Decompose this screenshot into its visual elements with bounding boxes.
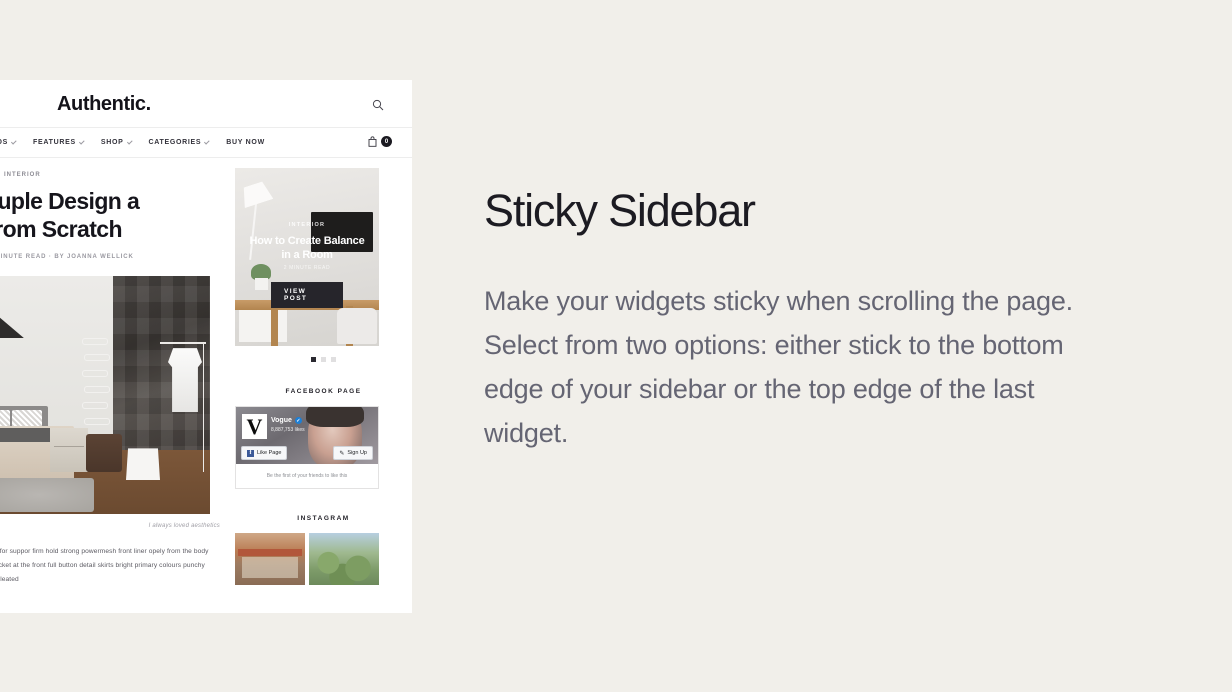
chevron-down-icon [126, 139, 132, 145]
facebook-avatar: V [242, 414, 267, 439]
carousel-meta: 2 MINUTE READ [235, 265, 379, 271]
photo-caption: I always loved aesthetics [0, 523, 232, 529]
nav-item-features[interactable]: FEATURES [33, 139, 85, 146]
carousel-title-line-1: How to Create Balance [249, 235, 364, 247]
facebook-like-page-button[interactable]: f Like Page [241, 446, 287, 460]
facebook-like-button-label: Like Page [257, 450, 281, 456]
facebook-page-name[interactable]: Vogue ✓ [271, 417, 302, 424]
carousel-title[interactable]: How to Create Balance in a Room [241, 234, 373, 262]
search-icon[interactable] [372, 99, 384, 111]
carousel-title-line-2: in a Room [281, 249, 332, 261]
article-meta: 2 MINUTE READ · BY JOANNA WELLICK [0, 254, 232, 260]
feature-description: Make your widgets sticky when scrolling … [484, 279, 1124, 455]
view-post-button[interactable]: VIEW POST [271, 282, 343, 308]
nav-item-buy-now[interactable]: BUY NOW [226, 139, 265, 146]
nav-item-demos[interactable]: MOS [0, 139, 17, 146]
nav-cart-area: 0 [368, 136, 392, 147]
sidebar-column: INTERIOR How to Create Balance in a Room… [232, 158, 412, 613]
carousel-dots [235, 357, 412, 362]
article-kicker[interactable]: INTERIOR [4, 172, 232, 178]
nav-item-label: SHOP [101, 139, 124, 146]
facebook-like-count: 8,887,753 likes [271, 427, 305, 433]
chevron-down-icon [204, 139, 210, 145]
site-logo[interactable]: Authentic. [57, 93, 151, 116]
pencil-icon: ✎ [339, 450, 344, 457]
site-preview-panel: Authentic. MOS FEATURES SHOP CATEGORIES … [0, 80, 412, 613]
carousel-dot-2[interactable] [321, 357, 326, 362]
facebook-signup-button[interactable]: ✎ Sign Up [333, 446, 373, 460]
instagram-grid [235, 533, 412, 585]
carousel-kicker: INTERIOR [235, 222, 379, 228]
nav-item-categories[interactable]: CATEGORIES [149, 139, 211, 146]
article-column: INTERIOR Couple Design a d from Scratch … [0, 158, 232, 613]
article-title-line-1: Couple Design a [0, 187, 232, 215]
cart-count-badge[interactable]: 0 [381, 136, 392, 147]
facebook-widget: V Vogue ✓ 8,887,753 likes f Like Page ✎ [235, 406, 379, 489]
site-nav: MOS FEATURES SHOP CATEGORIES BUY NOW 0 [0, 128, 412, 158]
facebook-logo-icon: f [247, 450, 254, 457]
site-body: INTERIOR Couple Design a d from Scratch … [0, 158, 412, 613]
nav-item-shop[interactable]: SHOP [101, 139, 133, 146]
instagram-tile[interactable] [309, 533, 379, 585]
facebook-actions: f Like Page ✎ Sign Up [241, 446, 373, 460]
nav-item-label: CATEGORIES [149, 139, 202, 146]
article-hero-photo [0, 276, 210, 514]
carousel-widget[interactable]: INTERIOR How to Create Balance in a Room… [235, 168, 379, 346]
instagram-widget-title: INSTAGRAM [235, 515, 412, 522]
chevron-down-icon [11, 139, 17, 145]
carousel-dot-1[interactable] [311, 357, 316, 362]
feature-panel: Sticky Sidebar Make your widgets sticky … [484, 188, 1144, 455]
verified-badge-icon: ✓ [295, 417, 302, 424]
nav-item-label: FEATURES [33, 139, 76, 146]
carousel-dot-3[interactable] [331, 357, 336, 362]
nav-item-label: MOS [0, 139, 8, 146]
shopping-bag-icon[interactable] [368, 136, 377, 147]
page-title: Sticky Sidebar [484, 188, 1144, 233]
facebook-footer-text: Be the first of your friends to like thi… [236, 464, 378, 488]
article-title[interactable]: Couple Design a d from Scratch [0, 187, 232, 243]
facebook-signup-button-label: Sign Up [347, 450, 367, 456]
facebook-cover: V Vogue ✓ 8,887,753 likes f Like Page ✎ [236, 407, 378, 464]
article-title-line-2: d from Scratch [0, 215, 232, 243]
facebook-page-name-text: Vogue [271, 417, 292, 424]
instagram-tile[interactable] [235, 533, 305, 585]
article-body-text: ed cups for suppor firm hold strong powe… [0, 545, 224, 587]
site-header: Authentic. [0, 80, 412, 128]
chevron-down-icon [79, 139, 85, 145]
nav-item-label: BUY NOW [226, 139, 265, 146]
facebook-widget-title: FACEBOOK PAGE [235, 388, 412, 395]
